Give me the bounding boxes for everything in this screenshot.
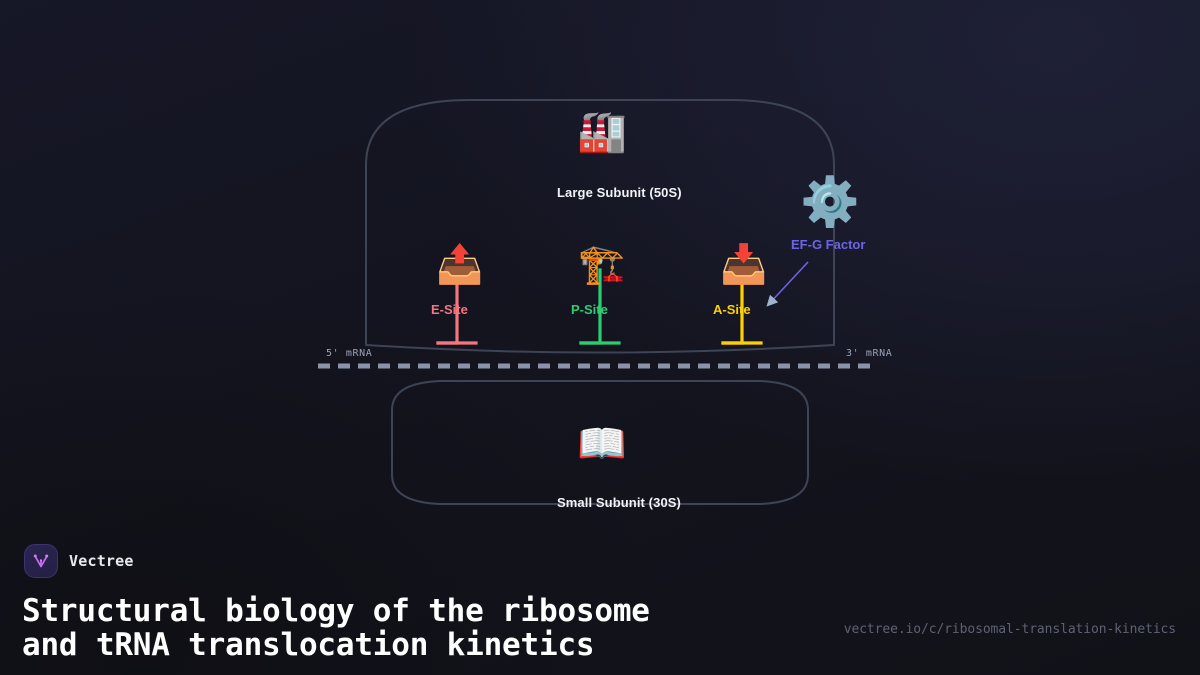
outbox-tray-emoji: 📤 — [436, 245, 483, 283]
ribosome-diagram: 🏭 Large Subunit (50S) 📖 Small Subunit (3… — [0, 0, 1200, 530]
small-subunit-label: Small Subunit (30S) — [557, 495, 681, 510]
site-label-e-site: E-Site — [431, 302, 468, 317]
brand-name: Vectree — [69, 552, 134, 570]
poster-canvas: 🏭 Large Subunit (50S) 📖 Small Subunit (3… — [0, 0, 1200, 675]
large-subunit-label: Large Subunit (50S) — [557, 185, 682, 200]
mrna-three-prime-label: 3' mRNA — [846, 348, 892, 359]
page-title-line-1: Structural biology of the ribosome — [22, 593, 650, 629]
efg-pointer-arrow — [768, 262, 808, 305]
efg-factor-label: EF-G Factor — [791, 237, 865, 252]
open-book-emoji: 📖 — [577, 424, 627, 464]
brand-block: Vectree — [24, 544, 134, 578]
inbox-tray-emoji: 📥 — [720, 245, 767, 283]
construction-crane-emoji: 🏗️ — [578, 245, 625, 283]
page-title: Structural biology of the ribosome and t… — [22, 594, 650, 662]
site-label-p-site: P-Site — [571, 302, 608, 317]
site-label-a-site: A-Site — [713, 302, 751, 317]
logo-glyph — [31, 551, 51, 571]
poster-footer: Vectree Structural biology of the riboso… — [0, 530, 1200, 675]
page-title-line-2: and tRNA translocation kinetics — [22, 627, 594, 663]
large-subunit-base-curve — [366, 345, 834, 353]
gear-emoji: ⚙️ — [800, 178, 860, 226]
factory-emoji: 🏭 — [577, 112, 627, 152]
page-url: vectree.io/c/ribosomal-translation-kinet… — [844, 622, 1176, 637]
mrna-five-prime-label: 5' mRNA — [326, 348, 372, 359]
vectree-branch-logo-icon — [24, 544, 58, 578]
